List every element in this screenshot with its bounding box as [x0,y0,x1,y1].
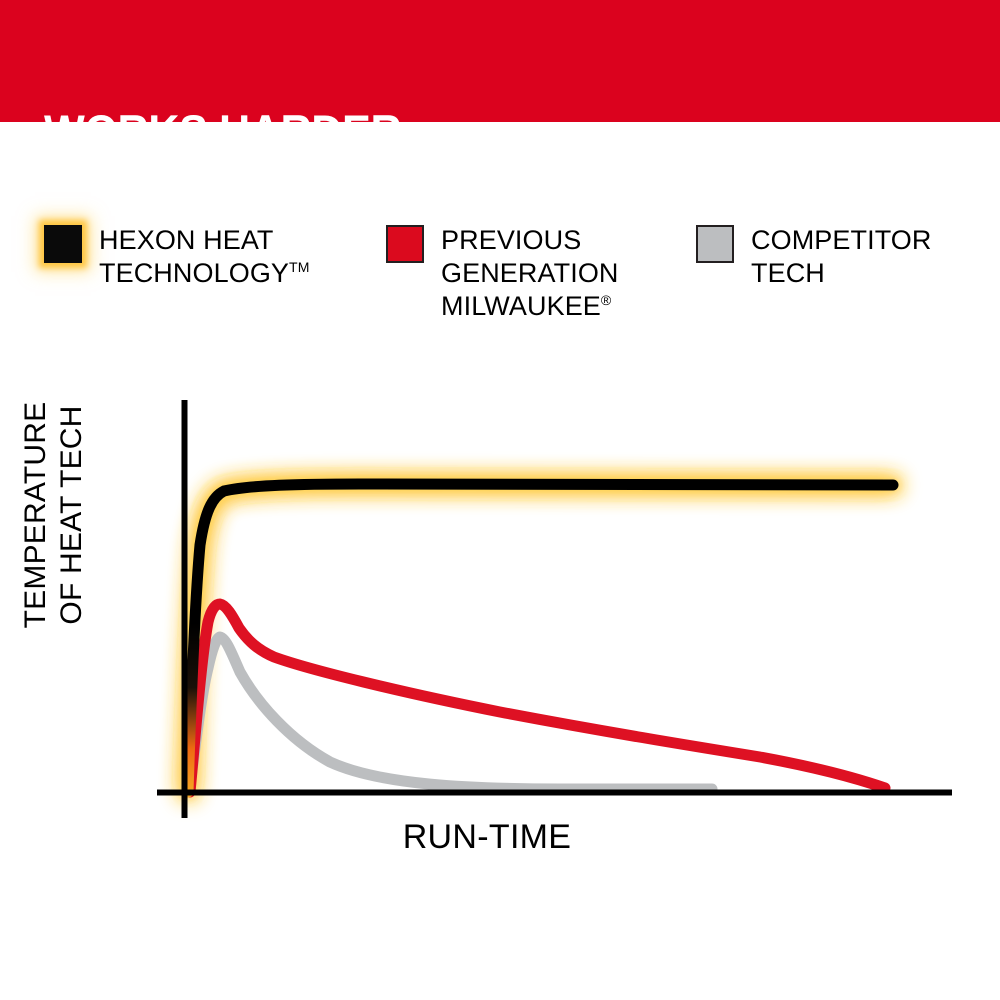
y-axis-title: TEMPERATURE OF HEAT TECH [15,350,93,680]
hexon-curve-glow [188,484,893,792]
infographic-page: WORKS HARDER IN FREEZING TEMPS HEXON HEA… [0,0,1000,1000]
x-axis-title: RUN-TIME [0,818,1000,857]
series-line-hexon-heat [188,484,893,792]
series-line-previous-generation [190,604,885,792]
series-line-competitor-tech [189,637,712,792]
